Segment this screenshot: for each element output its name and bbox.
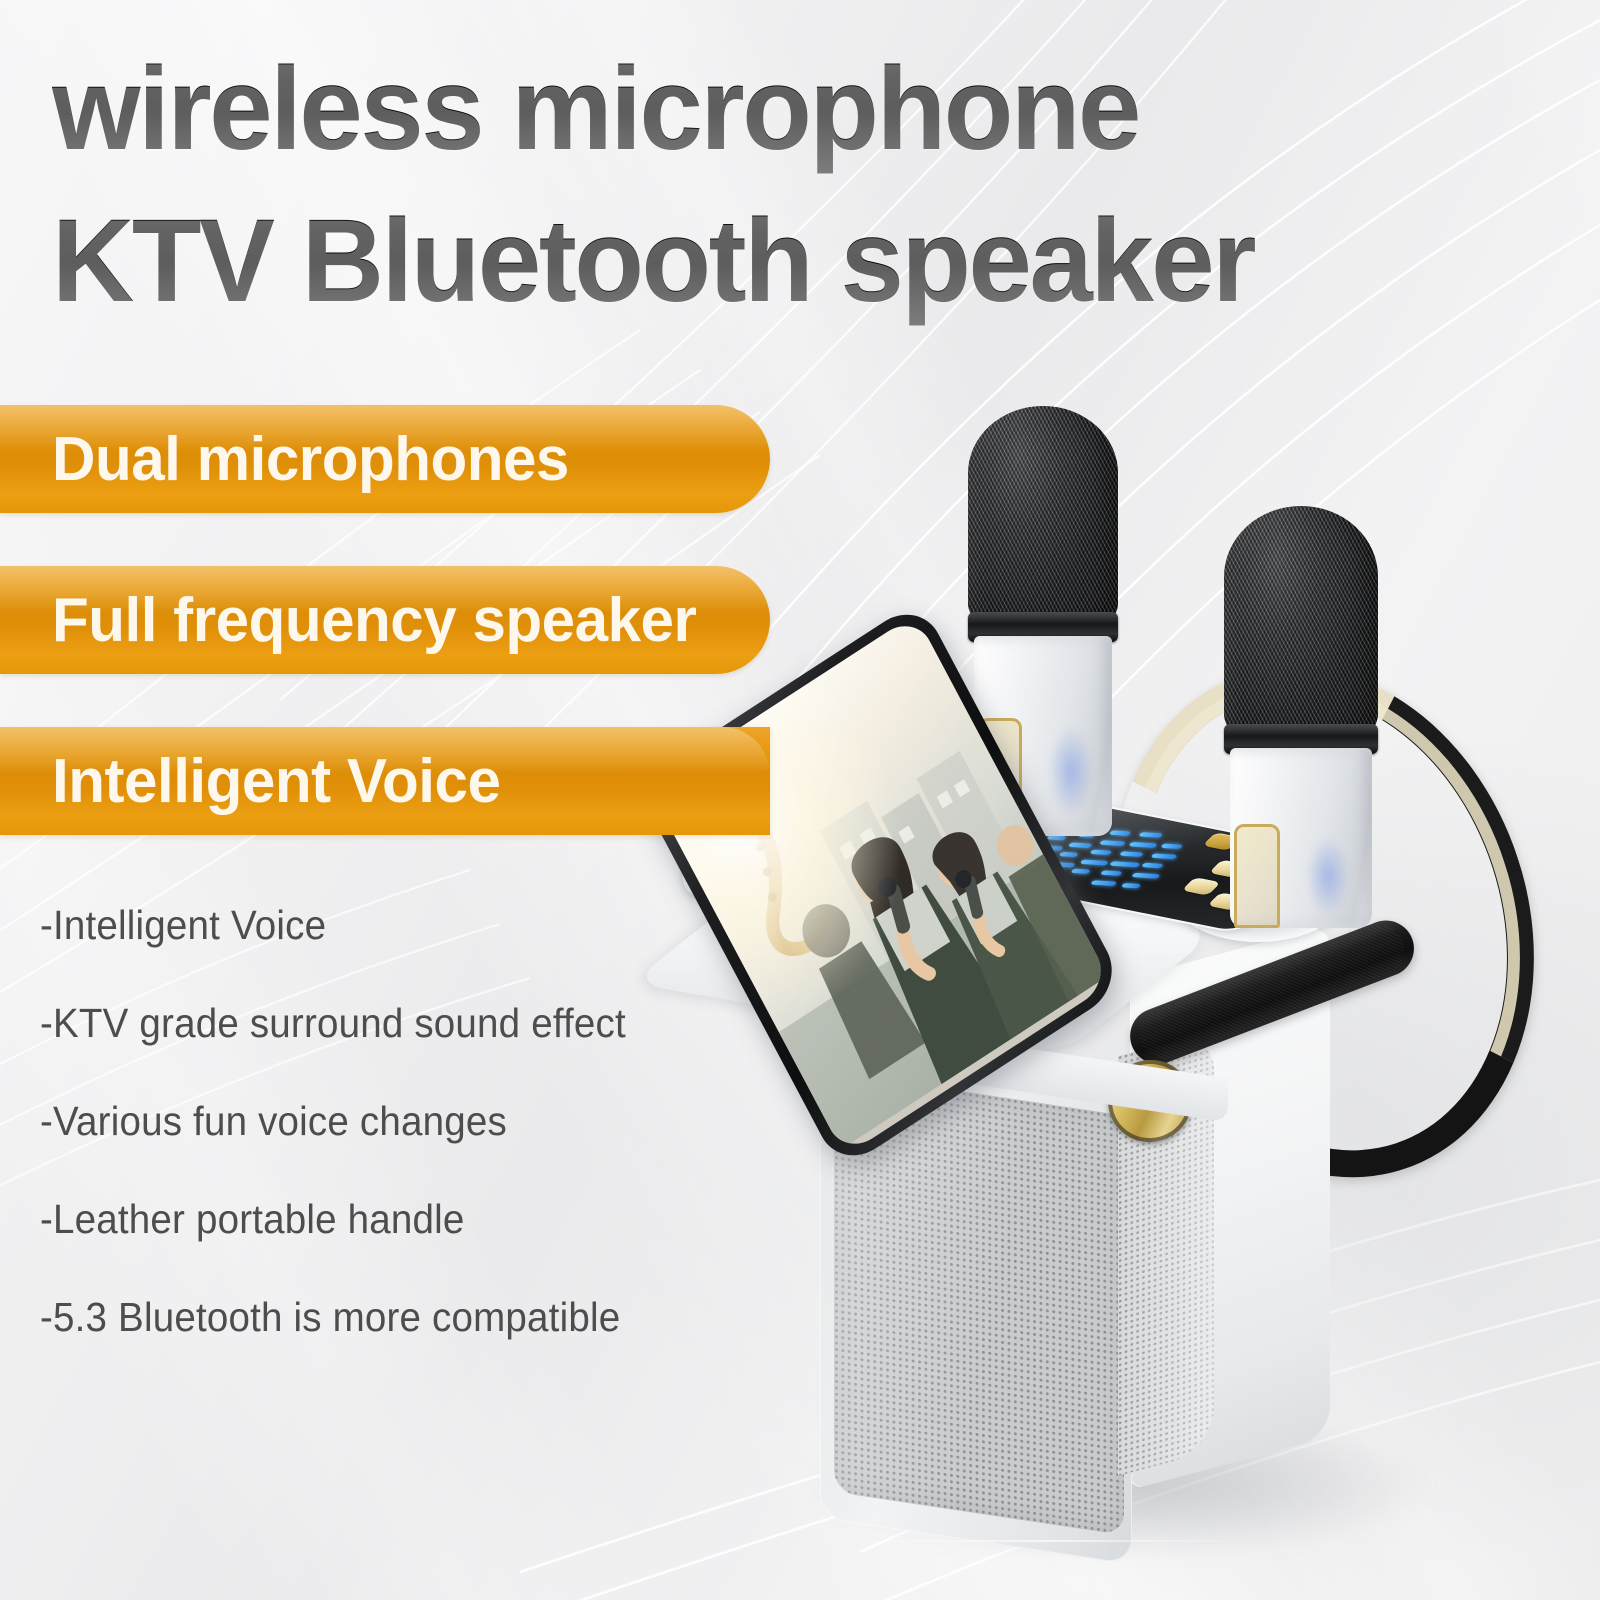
page-title: wireless microphone KTV Bluetooth speake… xyxy=(52,40,1332,330)
bullet-item: -Various fun voice changes xyxy=(40,1101,626,1142)
feature-bullet-list: -Intelligent Voice -KTV grade surround s… xyxy=(40,905,663,1338)
feature-badge-list: Dual microphones Full frequency speaker … xyxy=(0,405,770,835)
microphone-led-glow xyxy=(1306,836,1350,916)
feature-badge-intelligent-voice[interactable]: Intelligent Voice xyxy=(0,727,770,835)
microphone-head-mesh xyxy=(1224,506,1378,742)
headline-line-2: KTV Bluetooth speaker xyxy=(52,192,1287,330)
feature-badge-label: Full frequency speaker xyxy=(52,585,696,656)
bullet-item: -5.3 Bluetooth is more compatible xyxy=(40,1297,626,1338)
microphone-led-glow xyxy=(1048,726,1094,816)
bullet-item: -Intelligent Voice xyxy=(40,905,626,946)
feature-badge-dual-microphones[interactable]: Dual microphones xyxy=(0,405,770,513)
bullet-item: -KTV grade surround sound effect xyxy=(40,1003,626,1044)
headline-line-1: wireless microphone xyxy=(52,40,1287,178)
feature-badge-label: Intelligent Voice xyxy=(52,746,500,817)
microphone-head-mesh xyxy=(968,406,1118,630)
cabinet-edge-highlight xyxy=(840,1540,1260,1542)
bullet-item: -Leather portable handle xyxy=(40,1199,626,1240)
feature-badge-label: Dual microphones xyxy=(52,424,569,495)
microphone-right xyxy=(1206,506,1406,946)
product-image xyxy=(700,400,1600,1600)
feature-badge-full-frequency-speaker[interactable]: Full frequency speaker xyxy=(0,566,770,674)
microphone-gold-accent xyxy=(1234,824,1280,928)
